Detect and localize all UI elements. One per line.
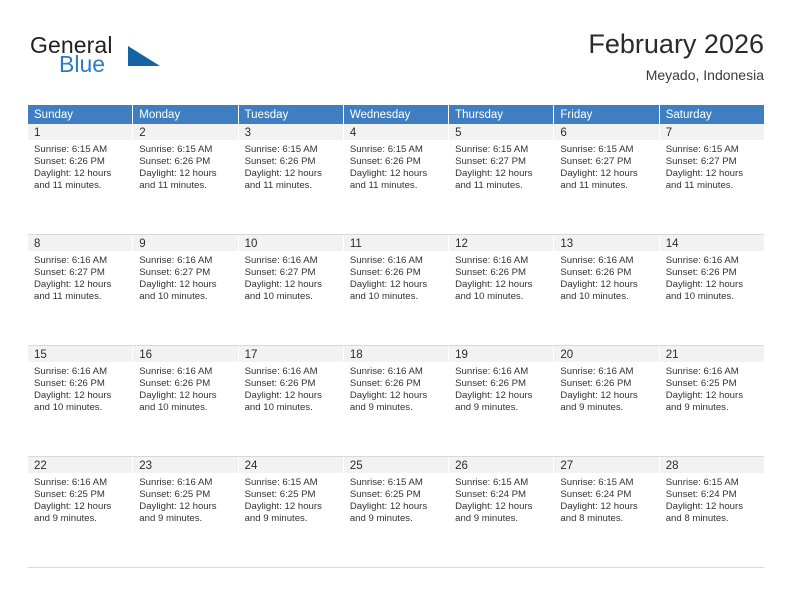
sunrise-text: Sunrise: 6:15 AM (560, 477, 651, 489)
day-details: Sunrise: 6:16 AM Sunset: 6:25 PM Dayligh… (28, 473, 132, 525)
day-number: 27 (554, 457, 658, 473)
sunrise-text: Sunrise: 6:16 AM (666, 366, 757, 378)
daylight-text: Daylight: 12 hours and 8 minutes. (560, 501, 651, 525)
day-cell[interactable]: 7 Sunrise: 6:15 AM Sunset: 6:27 PM Dayli… (660, 124, 764, 234)
day-cell[interactable]: 18 Sunrise: 6:16 AM Sunset: 6:26 PM Dayl… (344, 346, 449, 456)
sunset-text: Sunset: 6:26 PM (350, 156, 441, 168)
day-cell[interactable]: 1 Sunrise: 6:15 AM Sunset: 6:26 PM Dayli… (28, 124, 133, 234)
daylight-text: Daylight: 12 hours and 10 minutes. (139, 279, 230, 303)
day-cell[interactable]: 20 Sunrise: 6:16 AM Sunset: 6:26 PM Dayl… (554, 346, 659, 456)
sunset-text: Sunset: 6:25 PM (245, 489, 336, 501)
sunrise-text: Sunrise: 6:16 AM (34, 255, 125, 267)
daylight-text: Daylight: 12 hours and 9 minutes. (34, 501, 125, 525)
day-details: Sunrise: 6:15 AM Sunset: 6:24 PM Dayligh… (554, 473, 658, 525)
day-details: Sunrise: 6:15 AM Sunset: 6:26 PM Dayligh… (239, 140, 343, 192)
daylight-text: Daylight: 12 hours and 11 minutes. (245, 168, 336, 192)
day-cell[interactable]: 22 Sunrise: 6:16 AM Sunset: 6:25 PM Dayl… (28, 457, 133, 567)
calendar-page: General Blue February 2026 Meyado, Indon… (0, 0, 792, 612)
sunset-text: Sunset: 6:26 PM (350, 378, 441, 390)
daylight-text: Daylight: 12 hours and 9 minutes. (455, 390, 546, 414)
day-cell[interactable]: 13 Sunrise: 6:16 AM Sunset: 6:26 PM Dayl… (554, 235, 659, 345)
daylight-text: Daylight: 12 hours and 11 minutes. (350, 168, 441, 192)
day-details: Sunrise: 6:15 AM Sunset: 6:27 PM Dayligh… (660, 140, 764, 192)
day-number: 13 (554, 235, 658, 251)
page-header: General Blue February 2026 Meyado, Indon… (28, 28, 764, 90)
daylight-text: Daylight: 12 hours and 10 minutes. (350, 279, 441, 303)
day-details: Sunrise: 6:16 AM Sunset: 6:26 PM Dayligh… (449, 251, 553, 303)
day-number: 5 (449, 124, 553, 140)
sunset-text: Sunset: 6:26 PM (245, 156, 336, 168)
day-cell[interactable]: 23 Sunrise: 6:16 AM Sunset: 6:25 PM Dayl… (133, 457, 238, 567)
day-cell[interactable]: 8 Sunrise: 6:16 AM Sunset: 6:27 PM Dayli… (28, 235, 133, 345)
day-number: 9 (133, 235, 237, 251)
weekday-header-sunday: Sunday (28, 105, 133, 124)
day-details: Sunrise: 6:15 AM Sunset: 6:26 PM Dayligh… (344, 140, 448, 192)
day-number: 11 (344, 235, 448, 251)
day-details: Sunrise: 6:16 AM Sunset: 6:27 PM Dayligh… (239, 251, 343, 303)
sunrise-text: Sunrise: 6:16 AM (666, 255, 757, 267)
day-number: 23 (133, 457, 237, 473)
day-cell[interactable]: 26 Sunrise: 6:15 AM Sunset: 6:24 PM Dayl… (449, 457, 554, 567)
weekday-header-wednesday: Wednesday (344, 105, 449, 124)
sunset-text: Sunset: 6:27 PM (34, 267, 125, 279)
day-details: Sunrise: 6:15 AM Sunset: 6:24 PM Dayligh… (449, 473, 553, 525)
day-cell[interactable]: 11 Sunrise: 6:16 AM Sunset: 6:26 PM Dayl… (344, 235, 449, 345)
sunset-text: Sunset: 6:27 PM (560, 156, 651, 168)
day-details: Sunrise: 6:16 AM Sunset: 6:26 PM Dayligh… (449, 362, 553, 414)
daylight-text: Daylight: 12 hours and 8 minutes. (666, 501, 757, 525)
day-details: Sunrise: 6:16 AM Sunset: 6:26 PM Dayligh… (554, 251, 658, 303)
day-number: 10 (239, 235, 343, 251)
sunrise-text: Sunrise: 6:15 AM (560, 144, 651, 156)
weekday-header-tuesday: Tuesday (239, 105, 344, 124)
week-row: 8 Sunrise: 6:16 AM Sunset: 6:27 PM Dayli… (28, 235, 764, 346)
sunset-text: Sunset: 6:26 PM (34, 156, 125, 168)
day-cell[interactable]: 17 Sunrise: 6:16 AM Sunset: 6:26 PM Dayl… (239, 346, 344, 456)
sunset-text: Sunset: 6:26 PM (666, 267, 757, 279)
sunset-text: Sunset: 6:26 PM (245, 378, 336, 390)
day-details: Sunrise: 6:16 AM Sunset: 6:25 PM Dayligh… (660, 362, 764, 414)
day-number: 25 (344, 457, 448, 473)
day-number: 18 (344, 346, 448, 362)
sunrise-text: Sunrise: 6:16 AM (245, 366, 336, 378)
weekday-header-monday: Monday (133, 105, 238, 124)
day-number: 3 (239, 124, 343, 140)
daylight-text: Daylight: 12 hours and 9 minutes. (350, 390, 441, 414)
day-number: 2 (133, 124, 237, 140)
location-subtitle: Meyado, Indonesia (588, 65, 764, 85)
day-number: 26 (449, 457, 553, 473)
sunset-text: Sunset: 6:27 PM (139, 267, 230, 279)
day-details: Sunrise: 6:16 AM Sunset: 6:26 PM Dayligh… (660, 251, 764, 303)
day-cell[interactable]: 24 Sunrise: 6:15 AM Sunset: 6:25 PM Dayl… (239, 457, 344, 567)
day-details: Sunrise: 6:16 AM Sunset: 6:27 PM Dayligh… (133, 251, 237, 303)
sunset-text: Sunset: 6:24 PM (455, 489, 546, 501)
sunrise-text: Sunrise: 6:16 AM (139, 366, 230, 378)
day-cell[interactable]: 28 Sunrise: 6:15 AM Sunset: 6:24 PM Dayl… (660, 457, 764, 567)
day-number: 12 (449, 235, 553, 251)
day-number: 24 (239, 457, 343, 473)
day-number: 20 (554, 346, 658, 362)
title-block: February 2026 Meyado, Indonesia (588, 28, 764, 85)
day-number: 21 (660, 346, 764, 362)
day-number: 14 (660, 235, 764, 251)
daylight-text: Daylight: 12 hours and 10 minutes. (666, 279, 757, 303)
week-row: 22 Sunrise: 6:16 AM Sunset: 6:25 PM Dayl… (28, 457, 764, 568)
sunrise-text: Sunrise: 6:16 AM (350, 366, 441, 378)
sunset-text: Sunset: 6:26 PM (139, 156, 230, 168)
day-details: Sunrise: 6:15 AM Sunset: 6:26 PM Dayligh… (133, 140, 237, 192)
day-cell[interactable]: 6 Sunrise: 6:15 AM Sunset: 6:27 PM Dayli… (554, 124, 659, 234)
sunrise-text: Sunrise: 6:16 AM (34, 366, 125, 378)
sunset-text: Sunset: 6:25 PM (34, 489, 125, 501)
day-details: Sunrise: 6:15 AM Sunset: 6:24 PM Dayligh… (660, 473, 764, 525)
day-cell[interactable]: 12 Sunrise: 6:16 AM Sunset: 6:26 PM Dayl… (449, 235, 554, 345)
sunrise-text: Sunrise: 6:15 AM (245, 144, 336, 156)
sunrise-text: Sunrise: 6:16 AM (350, 255, 441, 267)
sunset-text: Sunset: 6:26 PM (34, 378, 125, 390)
sunset-text: Sunset: 6:27 PM (666, 156, 757, 168)
day-cell[interactable]: 3 Sunrise: 6:15 AM Sunset: 6:26 PM Dayli… (239, 124, 344, 234)
sunset-text: Sunset: 6:26 PM (139, 378, 230, 390)
sunrise-text: Sunrise: 6:15 AM (245, 477, 336, 489)
day-number: 19 (449, 346, 553, 362)
day-cell[interactable]: 21 Sunrise: 6:16 AM Sunset: 6:25 PM Dayl… (660, 346, 764, 456)
day-details: Sunrise: 6:15 AM Sunset: 6:27 PM Dayligh… (449, 140, 553, 192)
day-details: Sunrise: 6:16 AM Sunset: 6:26 PM Dayligh… (344, 362, 448, 414)
sunset-text: Sunset: 6:27 PM (455, 156, 546, 168)
day-cell[interactable]: 15 Sunrise: 6:16 AM Sunset: 6:26 PM Dayl… (28, 346, 133, 456)
day-details: Sunrise: 6:16 AM Sunset: 6:26 PM Dayligh… (28, 362, 132, 414)
daylight-text: Daylight: 12 hours and 10 minutes. (245, 390, 336, 414)
daylight-text: Daylight: 12 hours and 11 minutes. (34, 279, 125, 303)
weekday-header-thursday: Thursday (449, 105, 554, 124)
day-details: Sunrise: 6:16 AM Sunset: 6:26 PM Dayligh… (133, 362, 237, 414)
sunset-text: Sunset: 6:27 PM (245, 267, 336, 279)
daylight-text: Daylight: 12 hours and 11 minutes. (666, 168, 757, 192)
daylight-text: Daylight: 12 hours and 10 minutes. (245, 279, 336, 303)
sunset-text: Sunset: 6:24 PM (560, 489, 651, 501)
day-cell[interactable]: 4 Sunrise: 6:15 AM Sunset: 6:26 PM Dayli… (344, 124, 449, 234)
day-cell[interactable]: 16 Sunrise: 6:16 AM Sunset: 6:26 PM Dayl… (133, 346, 238, 456)
daylight-text: Daylight: 12 hours and 9 minutes. (350, 501, 441, 525)
daylight-text: Daylight: 12 hours and 9 minutes. (560, 390, 651, 414)
sunrise-text: Sunrise: 6:16 AM (139, 255, 230, 267)
day-details: Sunrise: 6:16 AM Sunset: 6:26 PM Dayligh… (239, 362, 343, 414)
sunrise-text: Sunrise: 6:15 AM (666, 477, 757, 489)
sunrise-text: Sunrise: 6:15 AM (455, 477, 546, 489)
sunset-text: Sunset: 6:26 PM (560, 378, 651, 390)
day-cell[interactable]: 19 Sunrise: 6:16 AM Sunset: 6:26 PM Dayl… (449, 346, 554, 456)
day-details: Sunrise: 6:15 AM Sunset: 6:26 PM Dayligh… (28, 140, 132, 192)
daylight-text: Daylight: 12 hours and 11 minutes. (455, 168, 546, 192)
day-number: 1 (28, 124, 132, 140)
day-number: 8 (28, 235, 132, 251)
day-number: 4 (344, 124, 448, 140)
sunrise-text: Sunrise: 6:15 AM (350, 477, 441, 489)
day-details: Sunrise: 6:15 AM Sunset: 6:25 PM Dayligh… (239, 473, 343, 525)
sunset-text: Sunset: 6:26 PM (455, 378, 546, 390)
week-row: 1 Sunrise: 6:15 AM Sunset: 6:26 PM Dayli… (28, 124, 764, 235)
sunrise-text: Sunrise: 6:16 AM (455, 366, 546, 378)
daylight-text: Daylight: 12 hours and 11 minutes. (139, 168, 230, 192)
day-details: Sunrise: 6:16 AM Sunset: 6:26 PM Dayligh… (344, 251, 448, 303)
day-number: 28 (660, 457, 764, 473)
daylight-text: Daylight: 12 hours and 9 minutes. (666, 390, 757, 414)
sunset-text: Sunset: 6:24 PM (666, 489, 757, 501)
day-number: 17 (239, 346, 343, 362)
sunrise-text: Sunrise: 6:16 AM (34, 477, 125, 489)
daylight-text: Daylight: 12 hours and 11 minutes. (34, 168, 125, 192)
daylight-text: Daylight: 12 hours and 10 minutes. (34, 390, 125, 414)
daylight-text: Daylight: 12 hours and 9 minutes. (455, 501, 546, 525)
day-number: 6 (554, 124, 658, 140)
day-details: Sunrise: 6:16 AM Sunset: 6:26 PM Dayligh… (554, 362, 658, 414)
sunrise-text: Sunrise: 6:15 AM (139, 144, 230, 156)
sunrise-text: Sunrise: 6:15 AM (666, 144, 757, 156)
week-row: 15 Sunrise: 6:16 AM Sunset: 6:26 PM Dayl… (28, 346, 764, 457)
sunset-text: Sunset: 6:26 PM (455, 267, 546, 279)
day-details: Sunrise: 6:16 AM Sunset: 6:25 PM Dayligh… (133, 473, 237, 525)
brand-triangle-icon (128, 46, 160, 66)
weekday-header-friday: Friday (554, 105, 659, 124)
sunrise-text: Sunrise: 6:16 AM (560, 366, 651, 378)
day-number: 15 (28, 346, 132, 362)
day-details: Sunrise: 6:15 AM Sunset: 6:25 PM Dayligh… (344, 473, 448, 525)
weekday-header-row: Sunday Monday Tuesday Wednesday Thursday… (28, 105, 764, 124)
sunrise-text: Sunrise: 6:16 AM (139, 477, 230, 489)
sunset-text: Sunset: 6:26 PM (560, 267, 651, 279)
daylight-text: Daylight: 12 hours and 10 minutes. (560, 279, 651, 303)
day-cell[interactable]: 25 Sunrise: 6:15 AM Sunset: 6:25 PM Dayl… (344, 457, 449, 567)
day-number: 22 (28, 457, 132, 473)
sunset-text: Sunset: 6:25 PM (139, 489, 230, 501)
sunset-text: Sunset: 6:26 PM (350, 267, 441, 279)
daylight-text: Daylight: 12 hours and 9 minutes. (245, 501, 336, 525)
day-number: 16 (133, 346, 237, 362)
sunrise-text: Sunrise: 6:15 AM (455, 144, 546, 156)
brand-name-blue: Blue (59, 51, 105, 78)
day-cell[interactable]: 2 Sunrise: 6:15 AM Sunset: 6:26 PM Dayli… (133, 124, 238, 234)
sunset-text: Sunset: 6:25 PM (350, 489, 441, 501)
day-cell[interactable]: 10 Sunrise: 6:16 AM Sunset: 6:27 PM Dayl… (239, 235, 344, 345)
sunrise-text: Sunrise: 6:15 AM (34, 144, 125, 156)
day-number: 7 (660, 124, 764, 140)
sunrise-text: Sunrise: 6:16 AM (560, 255, 651, 267)
calendar-grid: Sunday Monday Tuesday Wednesday Thursday… (28, 105, 764, 568)
sunrise-text: Sunrise: 6:16 AM (245, 255, 336, 267)
day-cell[interactable]: 27 Sunrise: 6:15 AM Sunset: 6:24 PM Dayl… (554, 457, 659, 567)
daylight-text: Daylight: 12 hours and 10 minutes. (455, 279, 546, 303)
daylight-text: Daylight: 12 hours and 9 minutes. (139, 501, 230, 525)
brand-logo[interactable]: General Blue (28, 32, 258, 88)
sunrise-text: Sunrise: 6:15 AM (350, 144, 441, 156)
weekday-header-saturday: Saturday (660, 105, 764, 124)
day-details: Sunrise: 6:15 AM Sunset: 6:27 PM Dayligh… (554, 140, 658, 192)
day-cell[interactable]: 5 Sunrise: 6:15 AM Sunset: 6:27 PM Dayli… (449, 124, 554, 234)
page-title: February 2026 (588, 28, 764, 60)
day-details: Sunrise: 6:16 AM Sunset: 6:27 PM Dayligh… (28, 251, 132, 303)
day-cell[interactable]: 9 Sunrise: 6:16 AM Sunset: 6:27 PM Dayli… (133, 235, 238, 345)
daylight-text: Daylight: 12 hours and 10 minutes. (139, 390, 230, 414)
sunset-text: Sunset: 6:25 PM (666, 378, 757, 390)
day-cell[interactable]: 14 Sunrise: 6:16 AM Sunset: 6:26 PM Dayl… (660, 235, 764, 345)
sunrise-text: Sunrise: 6:16 AM (455, 255, 546, 267)
daylight-text: Daylight: 12 hours and 11 minutes. (560, 168, 651, 192)
